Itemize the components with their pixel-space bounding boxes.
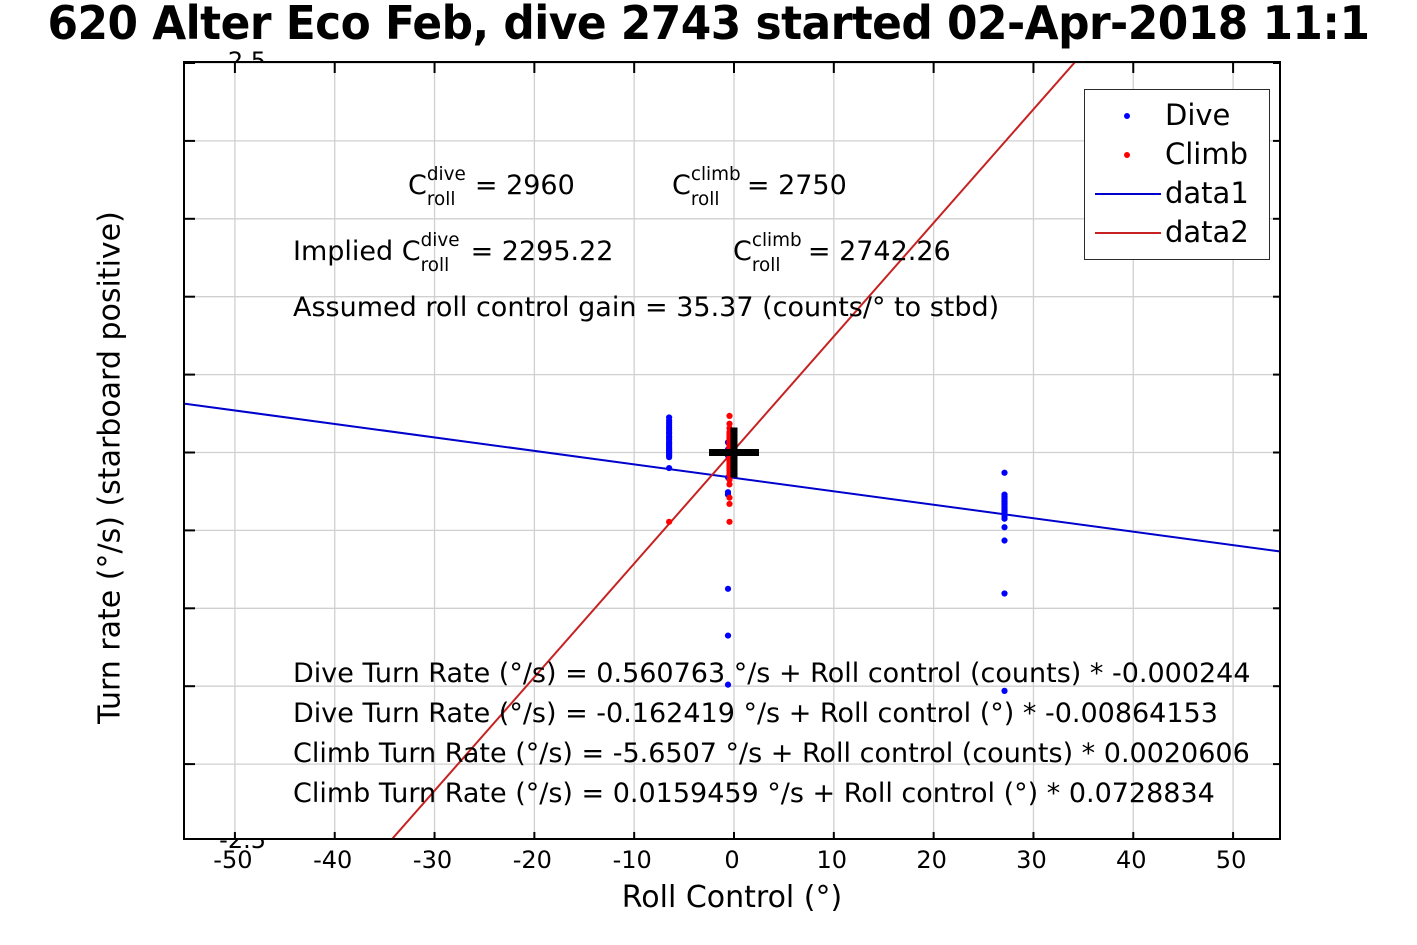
x-axis-label: Roll Control (°) xyxy=(183,880,1281,915)
annotation-roll-control-gain: Assumed roll control gain = 35.37 (count… xyxy=(293,294,999,321)
legend-item-label: Climb xyxy=(1165,140,1248,169)
legend-line-icon xyxy=(1095,193,1161,195)
x-tick-label: 30 xyxy=(986,846,1076,874)
data-point-dive xyxy=(666,454,672,460)
c-climb-value: = 2750 xyxy=(747,170,847,201)
legend-item-label: data1 xyxy=(1165,179,1249,208)
data-point-dive xyxy=(725,632,731,638)
x-tick-label: -10 xyxy=(587,846,677,874)
legend-item-data1[interactable]: data1 xyxy=(1085,174,1269,213)
legend-item-climb[interactable]: Climb xyxy=(1085,135,1269,174)
legend-item-data2[interactable]: data2 xyxy=(1085,213,1269,252)
x-tick-label: -50 xyxy=(188,846,278,874)
data-point-dive xyxy=(1001,516,1007,522)
legend-line-icon xyxy=(1095,232,1161,234)
legend: DiveClimbdata1data2 xyxy=(1084,89,1270,260)
y-axis-label: Turn rate (°/s) (starboard positive) xyxy=(93,88,128,848)
legend-dot-icon xyxy=(1091,106,1165,126)
annotation-implied-climb: Cclimbroll= 2742.26 xyxy=(733,238,951,265)
c-dive-symbol: C xyxy=(408,170,427,201)
x-tick-label: 10 xyxy=(787,846,877,874)
data-point-climb xyxy=(726,495,732,501)
data-point-climb xyxy=(726,413,732,419)
data-point-dive xyxy=(1001,524,1007,530)
legend-dot-icon xyxy=(1091,145,1165,165)
c-dive-value: = 2960 xyxy=(475,170,575,201)
c-climb-symbol: C xyxy=(672,170,691,201)
x-tick-label: -30 xyxy=(388,846,478,874)
x-tick-label: -20 xyxy=(487,846,577,874)
data-point-dive xyxy=(1001,537,1007,543)
equation-climb-degrees: Climb Turn Rate (°/s) = 0.0159459 °/s + … xyxy=(293,780,1215,807)
x-tick-label: 0 xyxy=(687,846,777,874)
equation-climb-counts: Climb Turn Rate (°/s) = -5.6507 °/s + Ro… xyxy=(293,740,1250,767)
x-tick-label: -40 xyxy=(288,846,378,874)
data-point-climb xyxy=(726,519,732,525)
chart-title: 620 Alter Eco Feb, dive 2743 started 02-… xyxy=(0,0,1417,50)
annotation-implied-dive: Implied Cdiveroll= 2295.22 xyxy=(293,238,613,265)
x-tick-label: 50 xyxy=(1186,846,1276,874)
implied-dive-value: = 2295.22 xyxy=(471,236,614,267)
legend-item-label: Dive xyxy=(1165,101,1230,130)
fit-line-data1 xyxy=(185,404,1281,552)
implied-climb-symbol: C xyxy=(733,236,752,267)
data-point-climb xyxy=(666,519,672,525)
equation-dive-degrees: Dive Turn Rate (°/s) = -0.162419 °/s + R… xyxy=(293,700,1218,727)
x-tick-label: 40 xyxy=(1086,846,1176,874)
legend-dot-icon xyxy=(1124,152,1130,158)
figure: 620 Alter Eco Feb, dive 2743 started 02-… xyxy=(0,0,1417,945)
data-point-dive xyxy=(666,465,672,471)
legend-dot-icon xyxy=(1124,113,1130,119)
annotation-c-dive: Cdiveroll= 2960 xyxy=(408,172,575,199)
equation-dive-counts: Dive Turn Rate (°/s) = 0.560763 °/s + Ro… xyxy=(293,660,1251,687)
legend-line-icon xyxy=(1091,184,1165,204)
data-point-dive xyxy=(1001,470,1007,476)
legend-line-icon xyxy=(1091,223,1165,243)
data-point-dive xyxy=(725,586,731,592)
data-point-climb xyxy=(726,501,732,507)
implied-dive-prefix: Implied C xyxy=(293,236,421,267)
data-point-dive xyxy=(1001,590,1007,596)
x-tick-label: 20 xyxy=(887,846,977,874)
annotation-c-climb: Cclimbroll= 2750 xyxy=(672,172,847,199)
legend-item-dive[interactable]: Dive xyxy=(1085,96,1269,135)
data-point-climb xyxy=(726,481,732,487)
legend-item-label: data2 xyxy=(1165,218,1249,247)
implied-climb-value: = 2742.26 xyxy=(808,236,951,267)
